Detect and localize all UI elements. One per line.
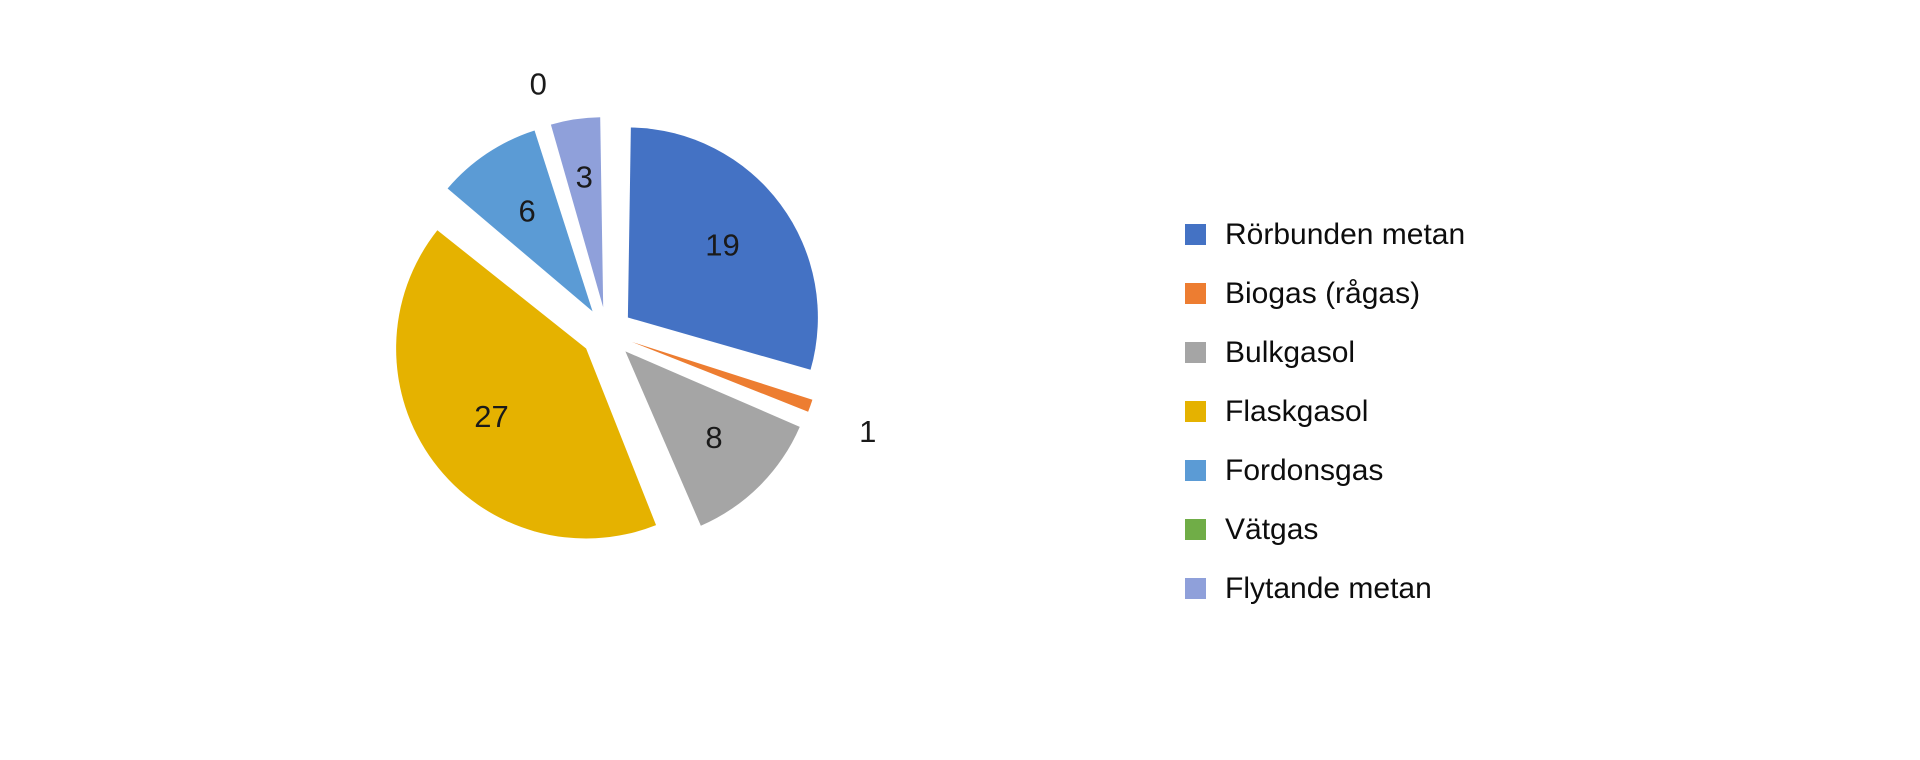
- legend-swatch-icon: [1185, 460, 1206, 481]
- pie-slice[interactable]: [396, 230, 656, 538]
- pie-plot-area: 191827603: [0, 0, 1180, 760]
- legend-item-label: Rörbunden metan: [1225, 220, 1465, 250]
- pie-data-label: 19: [705, 228, 739, 263]
- legend-item[interactable]: Flytande metan: [1185, 559, 1825, 618]
- pie-data-label: 1: [859, 414, 876, 449]
- legend-item[interactable]: Rörbunden metan: [1185, 205, 1825, 264]
- legend-swatch-icon: [1185, 342, 1206, 363]
- legend-item[interactable]: Fordonsgas: [1185, 441, 1825, 500]
- legend-swatch-icon: [1185, 578, 1206, 599]
- legend-item-label: Fordonsgas: [1225, 456, 1383, 486]
- legend-item-label: Flaskgasol: [1225, 397, 1368, 427]
- pie-svg: 191827603: [0, 0, 1180, 760]
- legend-item-label: Vätgas: [1225, 515, 1318, 545]
- legend-item[interactable]: Flaskgasol: [1185, 382, 1825, 441]
- legend-item[interactable]: Vätgas: [1185, 500, 1825, 559]
- pie-slice-group: [396, 117, 818, 538]
- pie-data-label: 27: [474, 399, 508, 434]
- legend-swatch-icon: [1185, 224, 1206, 245]
- legend-swatch-icon: [1185, 519, 1206, 540]
- pie-data-label: 8: [705, 420, 722, 455]
- legend-item-label: Biogas (rågas): [1225, 279, 1420, 309]
- chart-legend: Rörbunden metanBiogas (rågas)BulkgasolFl…: [1185, 205, 1825, 618]
- pie-data-label: 6: [518, 194, 535, 229]
- pie-data-label: 3: [576, 160, 593, 195]
- legend-swatch-icon: [1185, 283, 1206, 304]
- legend-item-label: Bulkgasol: [1225, 338, 1355, 368]
- legend-item[interactable]: Biogas (rågas): [1185, 264, 1825, 323]
- pie-chart-figure: 191827603 Rörbunden metanBiogas (rågas)B…: [0, 0, 1920, 760]
- pie-data-label: 0: [530, 66, 547, 101]
- legend-item-label: Flytande metan: [1225, 574, 1432, 604]
- legend-item[interactable]: Bulkgasol: [1185, 323, 1825, 382]
- legend-swatch-icon: [1185, 401, 1206, 422]
